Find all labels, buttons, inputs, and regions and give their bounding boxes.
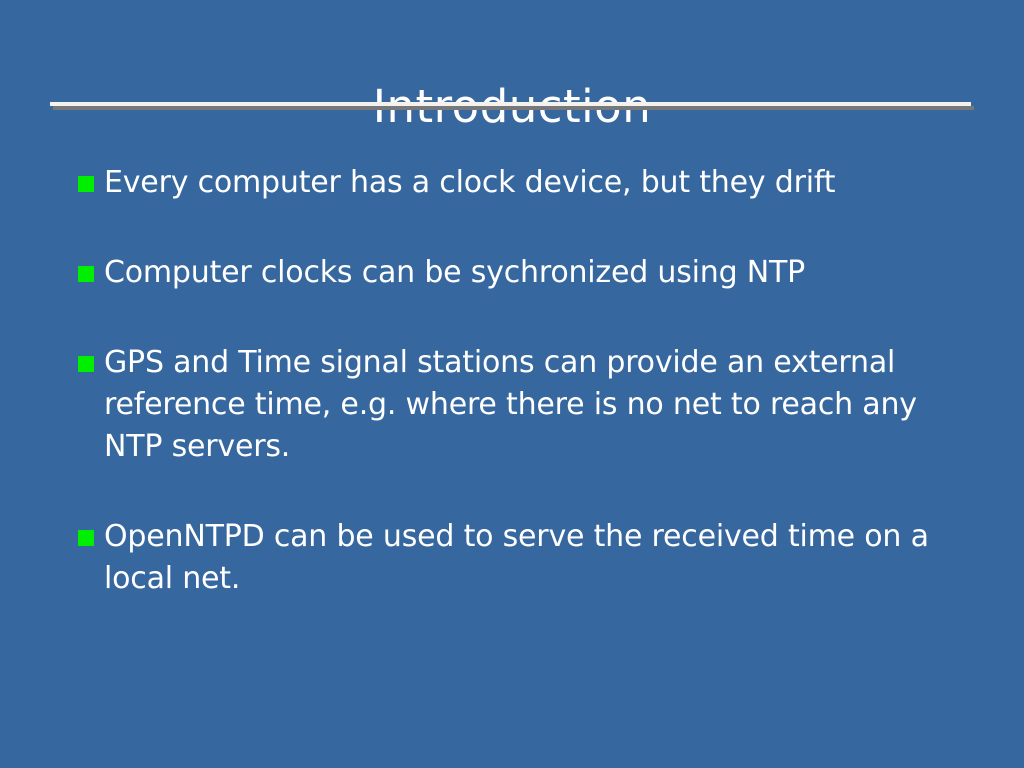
square-bullet-icon [78, 266, 94, 282]
list-item-text: Every computer has a clock device, but t… [104, 162, 944, 204]
title-divider-rule [50, 102, 971, 111]
square-bullet-icon [78, 176, 94, 192]
square-bullet-icon [78, 530, 94, 546]
list-item-text: GPS and Time signal stations can provide… [104, 342, 930, 468]
list-item: Every computer has a clock device, but t… [78, 162, 958, 204]
title-divider-line [50, 102, 971, 106]
square-bullet-icon [78, 356, 94, 372]
title-divider-shadow [53, 106, 974, 110]
list-item: OpenNTPD can be used to serve the receiv… [78, 516, 958, 600]
list-item: GPS and Time signal stations can provide… [78, 342, 958, 468]
list-item-text: OpenNTPD can be used to serve the receiv… [104, 516, 940, 600]
presentation-slide: Introduction Every computer has a clock … [0, 0, 1024, 768]
list-item-text: Computer clocks can be sychronized using… [104, 252, 944, 294]
bullet-list: Every computer has a clock device, but t… [78, 162, 958, 600]
list-item: Computer clocks can be sychronized using… [78, 252, 958, 294]
